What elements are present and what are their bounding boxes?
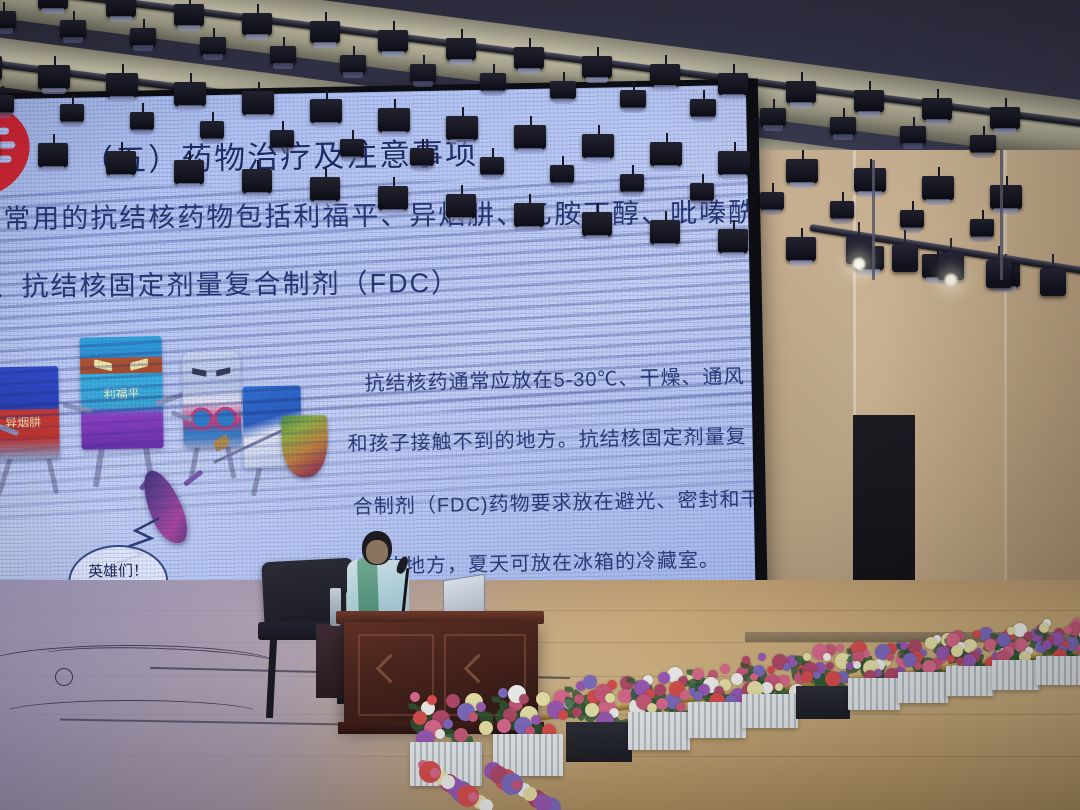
flower-bloom <box>758 653 766 661</box>
white-picket-planter <box>742 694 798 728</box>
flower-bloom <box>826 662 834 670</box>
flower-bloom <box>479 799 493 810</box>
flower-bloom <box>803 653 811 661</box>
dark-planter <box>796 686 850 719</box>
flower-bloom <box>742 656 750 664</box>
flower-bloom <box>886 653 894 661</box>
flower-bloom <box>783 663 791 671</box>
stage-flower-arrangement <box>410 692 492 748</box>
flower-bloom <box>519 694 529 704</box>
flower-bloom <box>676 702 686 712</box>
flower-bloom <box>693 691 703 701</box>
flower-bloom <box>430 768 440 778</box>
flower-bloom <box>973 630 981 638</box>
flower-bloom <box>775 683 783 691</box>
flower-bloom <box>951 645 963 657</box>
flower-bloom <box>900 642 908 650</box>
flower-bloom <box>512 780 522 790</box>
flower-bloom <box>750 673 758 681</box>
flower-bloom <box>427 695 437 705</box>
flower-bloom <box>1039 623 1049 633</box>
flower-bloom <box>823 653 831 661</box>
flower-bloom <box>441 775 455 789</box>
flower-bloom <box>574 694 584 704</box>
flower-bloom <box>572 707 582 717</box>
flower-bloom <box>813 671 821 679</box>
flower-bloom <box>498 688 508 698</box>
white-picket-planter <box>628 712 690 750</box>
flower-bloom <box>1064 626 1072 634</box>
flower-bloom <box>801 671 813 683</box>
flower-bloom <box>1024 632 1032 640</box>
flower-bloom <box>956 657 964 665</box>
flower-bloom <box>1076 646 1080 654</box>
flower-bloom <box>914 662 922 670</box>
white-picket-planter <box>688 702 746 738</box>
flower-bloom <box>853 661 861 669</box>
flower-bloom <box>692 668 704 680</box>
white-picket-planter <box>848 678 900 710</box>
flower-bloom <box>479 721 493 735</box>
stage-flower-arrangement <box>418 760 548 810</box>
flower-bloom <box>658 672 670 684</box>
flower-bloom <box>534 794 552 810</box>
flower-bloom <box>1042 640 1052 650</box>
flower-bloom <box>605 693 615 703</box>
flower-bloom <box>454 728 468 742</box>
stage-flower-arrangement <box>493 685 573 740</box>
flower-bloom <box>476 702 486 712</box>
lecture-hall-photo: （五）药物治疗及注意事项 常用的抗结核药物包括利福平、异烟肼、乙胺丁醇、吡嗪酰 … <box>0 0 1080 810</box>
flower-bloom <box>497 719 511 733</box>
white-picket-planter <box>898 672 948 703</box>
flower-bloom <box>468 792 478 802</box>
white-picket-planter <box>946 666 994 696</box>
flower-bloom <box>656 698 668 710</box>
flower-bloom <box>654 684 666 696</box>
flower-bloom <box>836 644 844 652</box>
flower-bloom <box>720 664 730 674</box>
flower-bloom <box>1007 627 1015 635</box>
flower-bloom <box>825 671 841 687</box>
white-picket-planter <box>1036 656 1080 685</box>
flower-bloom <box>410 692 420 702</box>
flower-bloom <box>925 637 937 649</box>
flower-bloom <box>435 729 445 739</box>
dark-planter <box>566 722 632 762</box>
flower-bloom <box>443 719 453 729</box>
white-picket-planter <box>992 660 1040 690</box>
flower-bloom <box>468 712 478 722</box>
flower-bloom <box>531 715 541 725</box>
